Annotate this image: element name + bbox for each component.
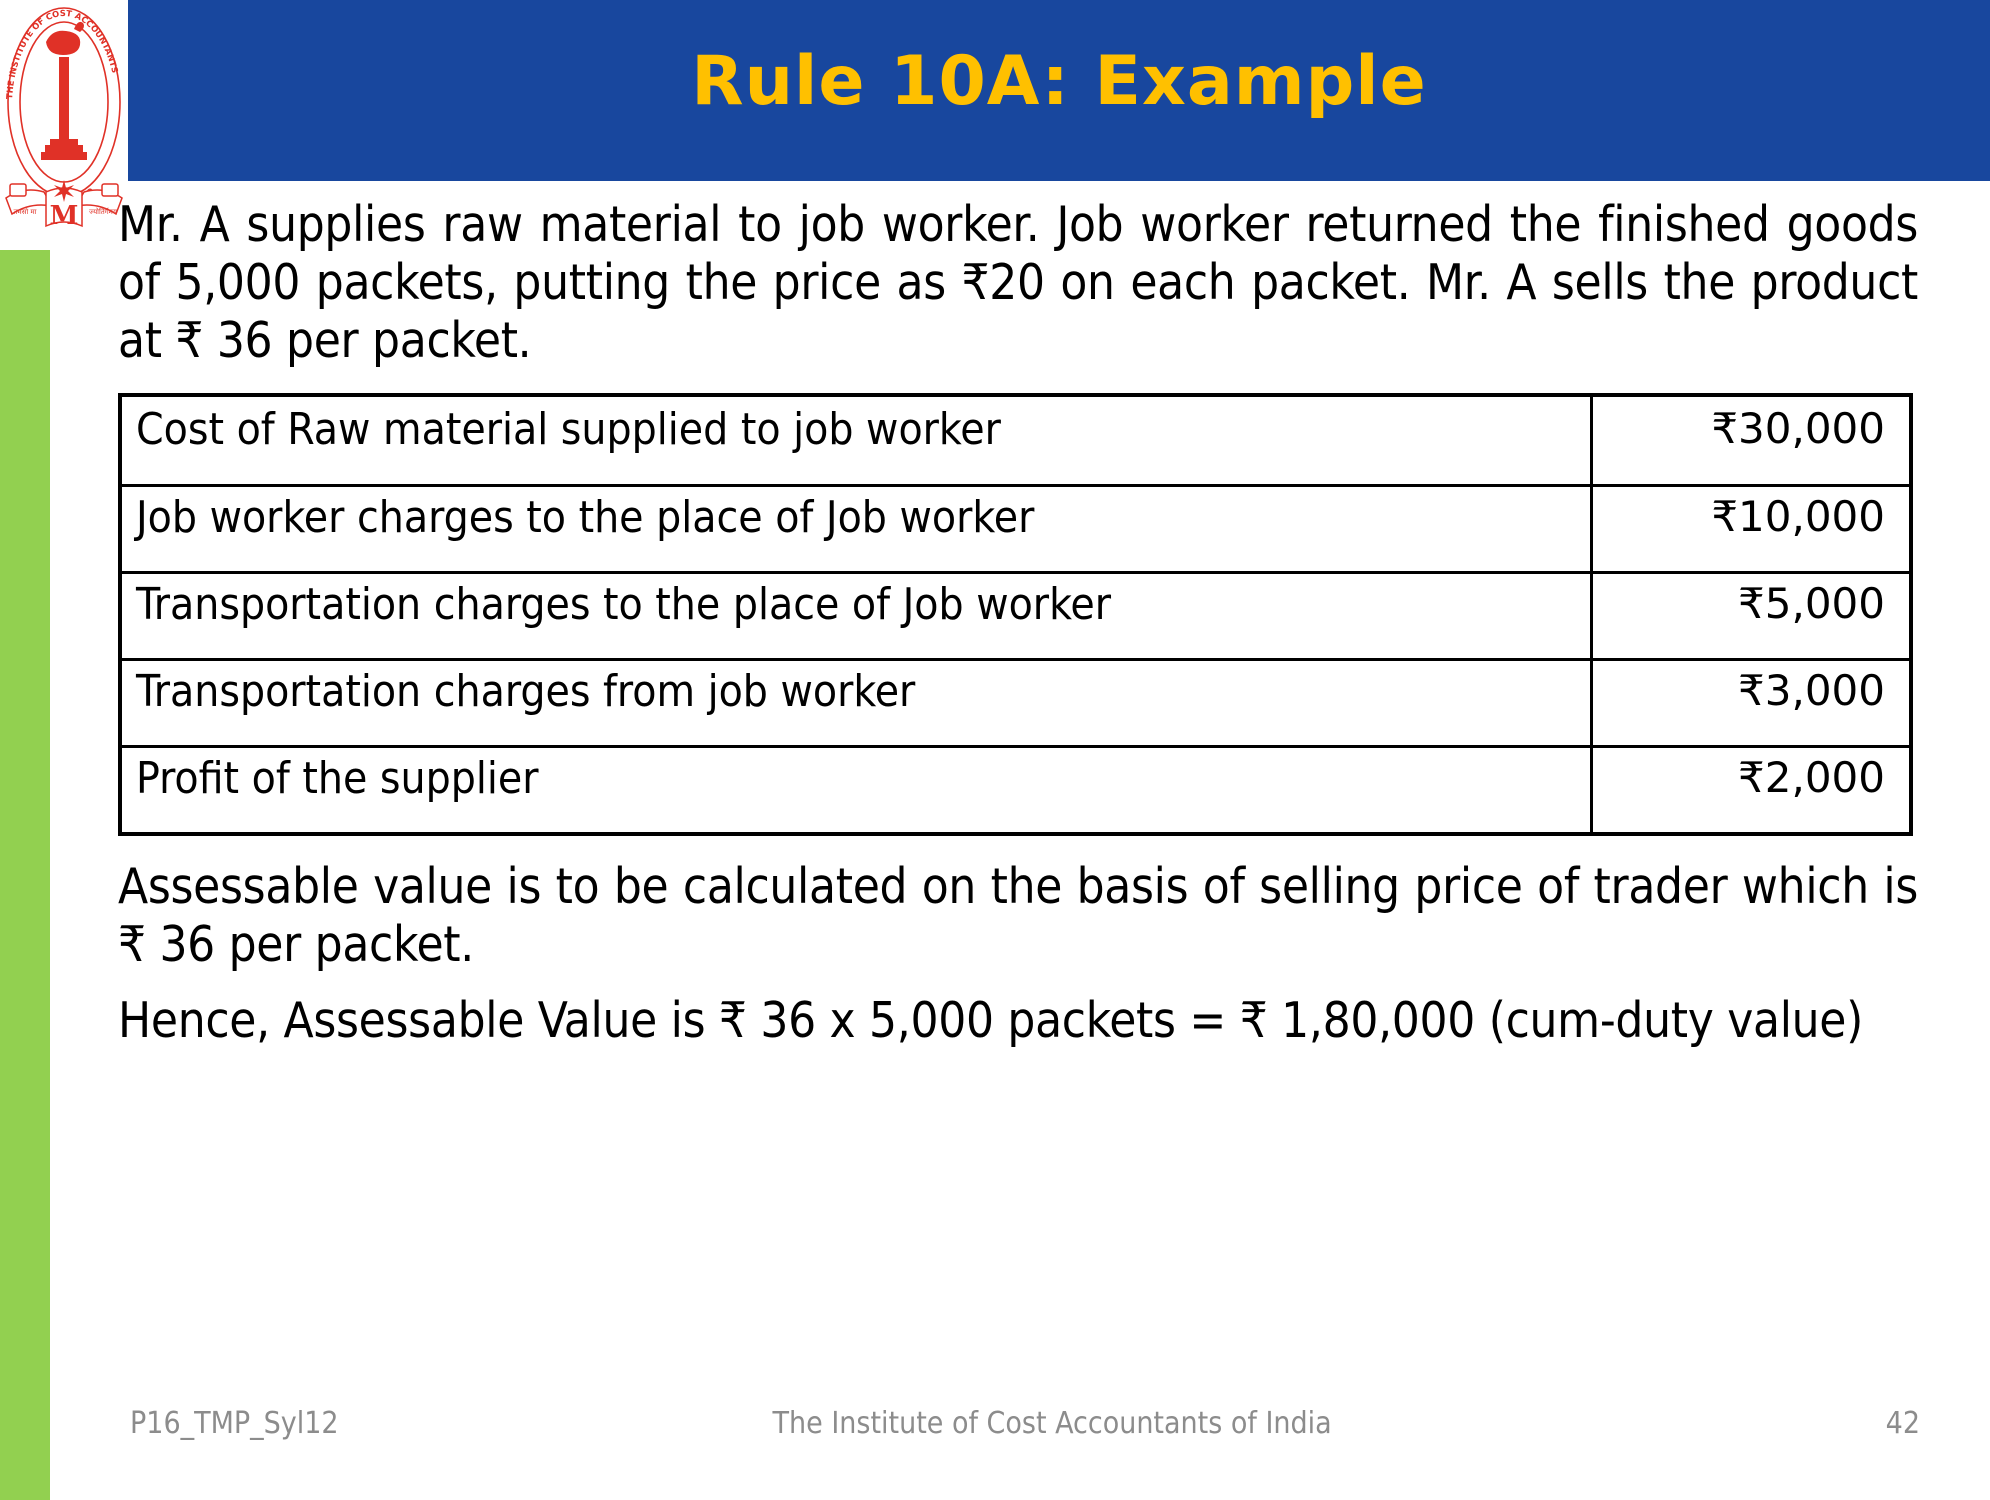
row-label: Transportation charges to the place of J… [120, 572, 1592, 659]
row-amount: ₹3,000 [1592, 660, 1912, 747]
row-amount: ₹5,000 [1592, 572, 1912, 659]
side-accent-strip [0, 250, 50, 1500]
intro-paragraph: Mr. A supplies raw material to job worke… [118, 196, 1918, 369]
assessable-value-paragraph: Assessable value is to be calculated on … [118, 858, 1918, 974]
slide-canvas: Rule 10A: Example THE INSTITUTE OF CO [0, 0, 1990, 1500]
table-row: Job worker charges to the place of Job w… [120, 485, 1911, 572]
svg-text:तमसो मा: तमसो मा [14, 207, 37, 216]
conclusion-block: Assessable value is to be calculated on … [118, 858, 1918, 1049]
row-label: Profit of the supplier [120, 747, 1592, 835]
institute-logo-icon: THE INSTITUTE OF COST ACCOUNTANTS OF IND… [2, 2, 126, 238]
footer-page-number: 42 [1886, 1406, 1920, 1441]
row-label: Transportation charges from job worker [120, 660, 1592, 747]
page-title: Rule 10A: Example [128, 0, 1990, 181]
table-row: Transportation charges to the place of J… [120, 572, 1911, 659]
hence-paragraph: Hence, Assessable Value is ₹ 36 x 5,000 … [118, 992, 1918, 1050]
row-amount: ₹2,000 [1592, 747, 1912, 835]
table-row: Profit of the supplier ₹2,000 [120, 747, 1911, 835]
cost-breakdown-table: Cost of Raw material supplied to job wor… [118, 393, 1913, 836]
slide-content: Mr. A supplies raw material to job worke… [118, 196, 1918, 1068]
row-label: Job worker charges to the place of Job w… [120, 485, 1592, 572]
row-amount: ₹30,000 [1592, 395, 1912, 485]
row-label: Cost of Raw material supplied to job wor… [120, 395, 1592, 485]
table-body: Cost of Raw material supplied to job wor… [120, 395, 1911, 834]
slide-footer: P16_TMP_Syl12 The Institute of Cost Acco… [130, 1400, 1920, 1446]
footer-institute: The Institute of Cost Accountants of Ind… [219, 1406, 1886, 1441]
table-row: Transportation charges from job worker ₹… [120, 660, 1911, 747]
svg-text:ज्योतिर्गमय: ज्योतिर्गमय [89, 207, 118, 216]
svg-text:M: M [50, 201, 79, 231]
table-row: Cost of Raw material supplied to job wor… [120, 395, 1911, 485]
row-amount: ₹10,000 [1592, 485, 1912, 572]
